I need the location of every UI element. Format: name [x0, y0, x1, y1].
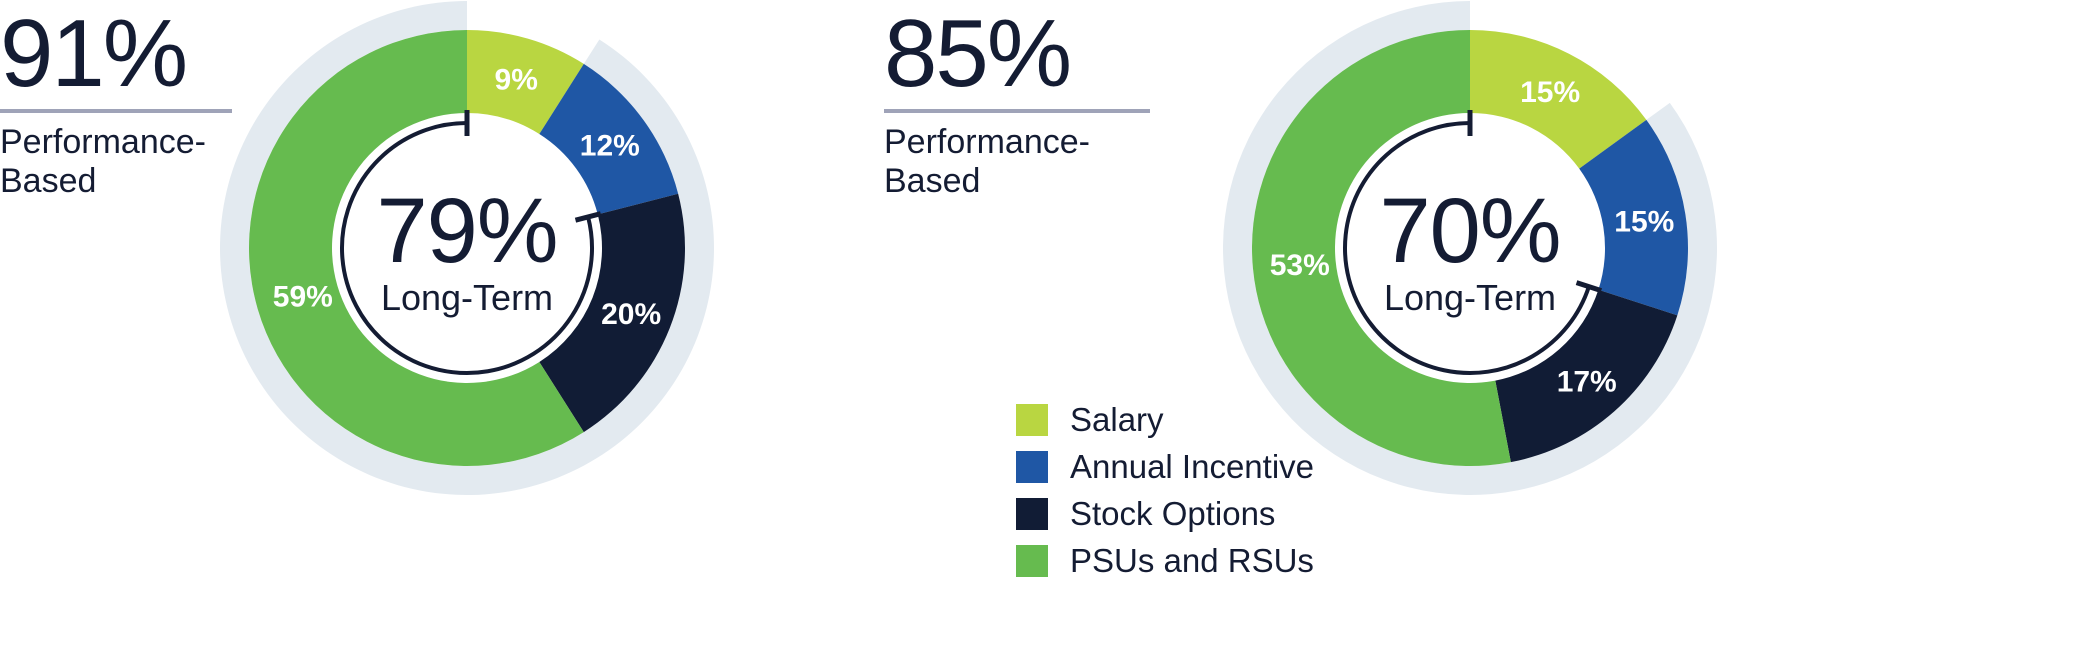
segment-label-stock-options: 17% — [1557, 365, 1617, 398]
legend-swatch-psus-and-rsus — [1016, 545, 1048, 577]
donut-group-neo: 15%15%17%53%70%Long-Term — [1223, 1, 1717, 495]
donut-chart-neo: 15%15%17%53%70%Long-Term — [1223, 0, 1723, 658]
pay-mix-figure: 9%12%20%59%79%Long-Term 91% Performance-… — [0, 0, 2074, 658]
kpi-label-neo: Performance- Based — [884, 123, 1150, 201]
segment-label-psus-and-rsus: 59% — [273, 281, 333, 314]
segment-label-salary: 15% — [1520, 76, 1580, 109]
legend-swatch-salary — [1016, 404, 1048, 436]
kpi-label-ceo: Performance- Based — [0, 123, 232, 201]
segment-label-psus-and-rsus: 53% — [1270, 249, 1330, 282]
pay-mix-chart-neo: 15%15%17%53%70%Long-Term — [1223, 0, 1723, 658]
center-caption: Long-Term — [1384, 277, 1556, 318]
kpi-neo: 85% Performance- Based — [884, 8, 1150, 201]
legend-swatch-annual-incentive — [1016, 451, 1048, 483]
kpi-rule-ceo — [0, 109, 232, 113]
segment-label-stock-options: 20% — [601, 298, 661, 331]
kpi-value-ceo: 91% — [0, 8, 232, 99]
pay-mix-chart-ceo: 9%12%20%59%79%Long-Term — [220, 0, 720, 658]
donut-chart-ceo: 9%12%20%59%79%Long-Term — [220, 0, 720, 658]
kpi-value-neo: 85% — [884, 8, 1150, 99]
donut-group-ceo: 9%12%20%59%79%Long-Term — [220, 1, 714, 495]
segment-label-annual-incentive: 12% — [580, 129, 640, 162]
segment-label-annual-incentive: 15% — [1614, 205, 1674, 238]
kpi-rule-neo — [884, 109, 1150, 113]
legend-swatch-stock-options — [1016, 498, 1048, 530]
center-caption: Long-Term — [381, 277, 553, 318]
legend-label-salary: Salary — [1070, 401, 1164, 439]
center-value: 79% — [376, 180, 557, 282]
segment-label-salary: 9% — [495, 64, 538, 97]
kpi-ceo: 91% Performance- Based — [0, 8, 232, 201]
center-value: 70% — [1379, 180, 1560, 282]
